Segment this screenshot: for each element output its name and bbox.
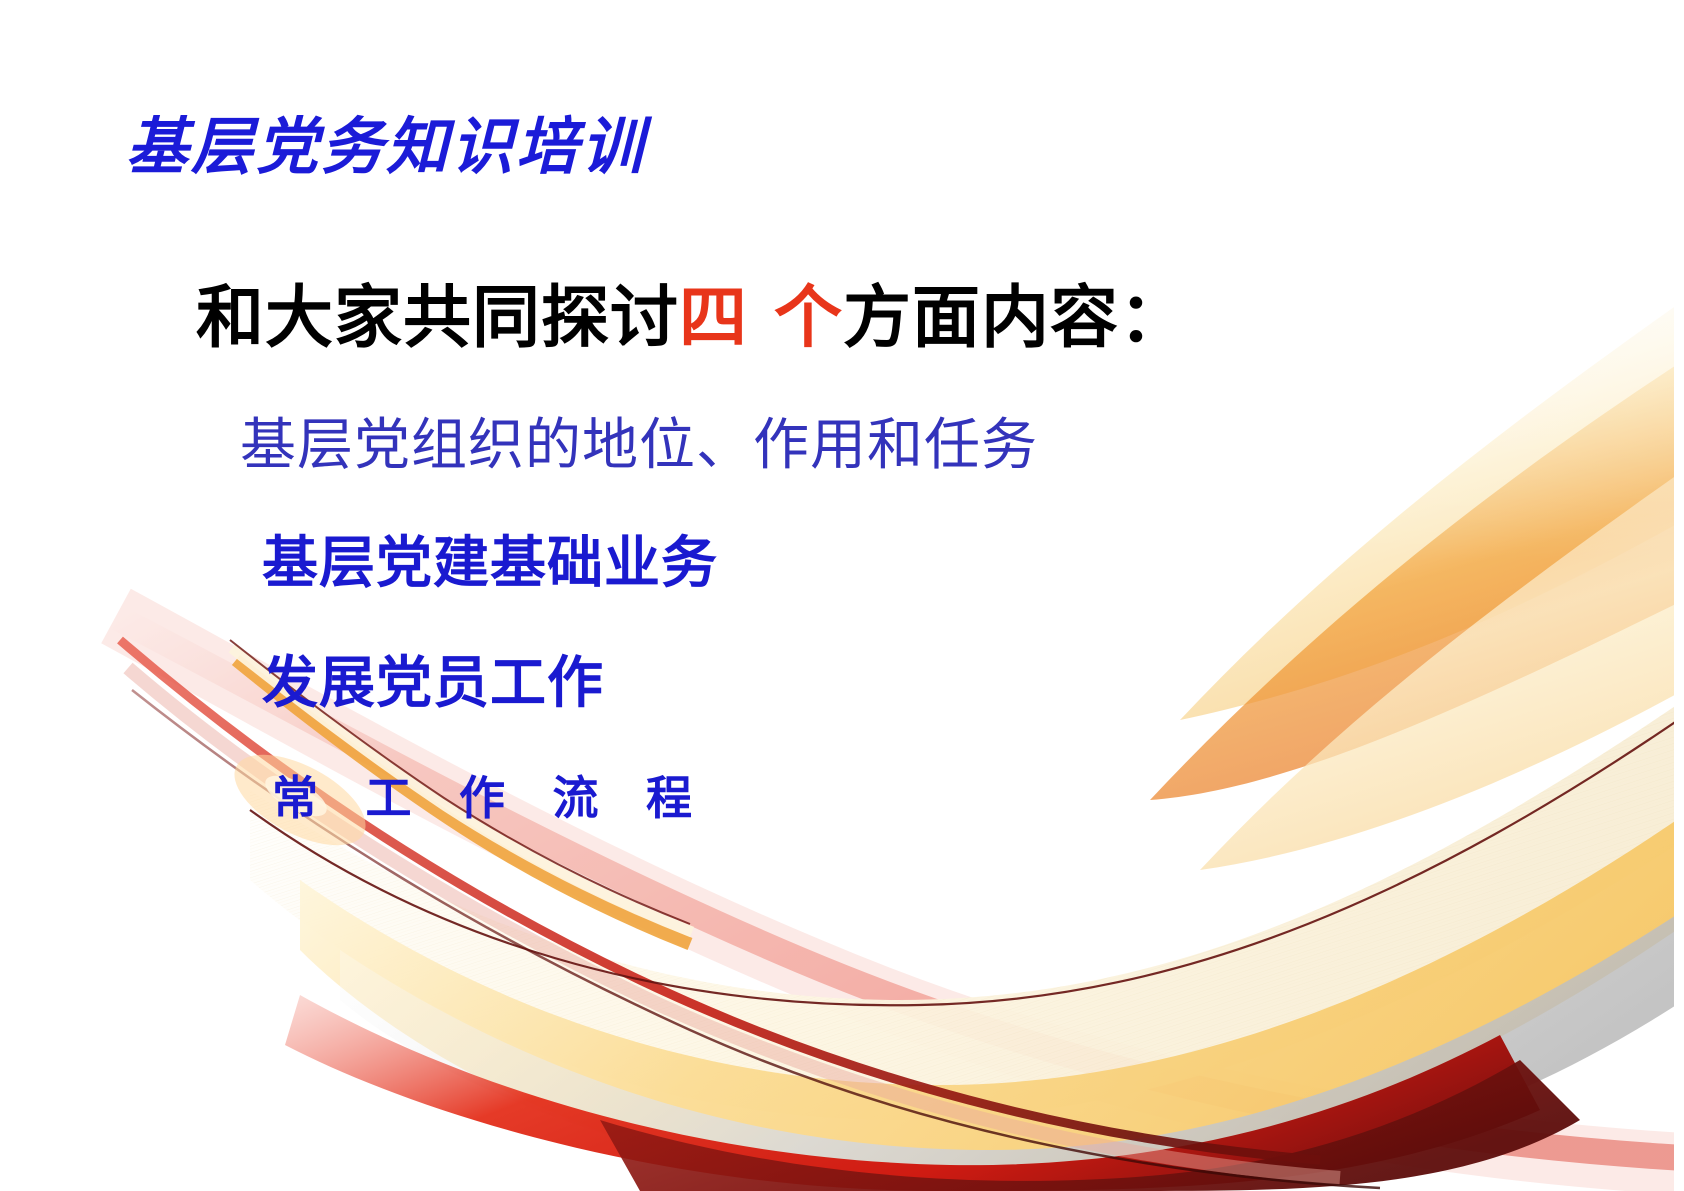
lead-part-2: 方面内容： (843, 280, 1188, 356)
page-edge-left (0, 0, 10, 1191)
lead-part-1: 和大家共同探讨 (196, 280, 679, 356)
slide-title: 基层党务知识培训 (126, 96, 646, 186)
outline-item-1: 基层党组织的地位、作用和任务 (240, 400, 1038, 481)
slide-content: 基层党务知识培训 和大家共同探讨四个方面内容： 基层党组织的地位、作用和任务 基… (0, 0, 1684, 1191)
page-edge-right (1674, 0, 1684, 1191)
outline-item-3: 发展党员工作 (262, 638, 604, 719)
outline-item-4: 常 工 作 流 程 (272, 762, 710, 828)
lead-accent-measure: 个 (774, 280, 843, 356)
outline-item-2: 基层党建基础业务 (262, 518, 718, 599)
presentation-slide: 基层党务知识培训 和大家共同探讨四个方面内容： 基层党组织的地位、作用和任务 基… (0, 0, 1684, 1191)
lead-statement: 和大家共同探讨四个方面内容： (196, 262, 1188, 361)
lead-accent-number: 四 (679, 280, 748, 356)
